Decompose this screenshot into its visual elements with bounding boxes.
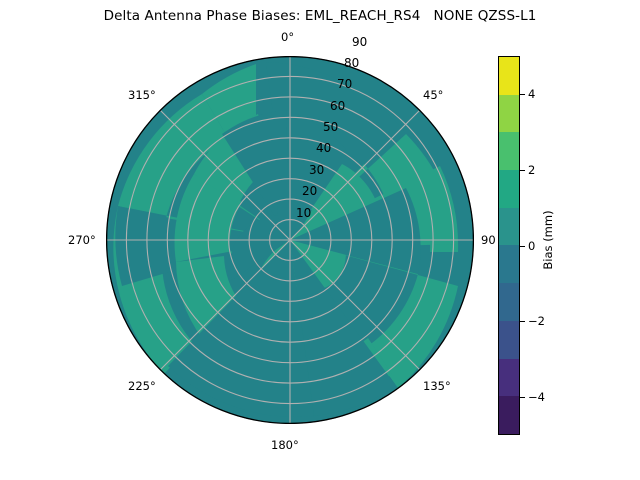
colorbar-tick-label-4: −4 (528, 390, 545, 404)
colorbar-title: Bias (mm) (541, 210, 555, 269)
radial-tick-60: 60 (330, 99, 345, 113)
colorbar-gradient (498, 56, 520, 435)
angle-tick-0: 0° (281, 30, 294, 44)
radial-tick-30: 30 (309, 163, 324, 177)
colorbar-tick-label-2: 0 (528, 239, 535, 253)
colorbar-band-6 (499, 283, 519, 321)
colorbar: 420−2−4 (498, 56, 520, 435)
angle-tick-135: 135° (423, 379, 451, 393)
polar-grid (106, 56, 474, 424)
colorbar-tick-1 (520, 170, 525, 171)
colorbar-band-5 (499, 245, 519, 283)
radial-tick-90: 90 (352, 35, 367, 49)
colorbar-tick-label-1: 2 (528, 163, 535, 177)
colorbar-tick-0 (520, 94, 525, 95)
colorbar-band-0 (499, 57, 519, 95)
colorbar-tick-4 (520, 397, 525, 398)
colorbar-band-2 (499, 132, 519, 170)
colorbar-tick-label-3: −2 (528, 314, 545, 328)
angle-tick-90: 90 (481, 233, 496, 247)
angle-tick-225: 225° (128, 379, 156, 393)
polar-axes: 10 20 30 40 50 60 70 80 90 (106, 56, 474, 424)
colorbar-tick-3 (520, 321, 525, 322)
colorbar-band-9 (499, 396, 519, 434)
page-title: Delta Antenna Phase Biases: EML_REACH_RS… (0, 8, 640, 24)
colorbar-band-1 (499, 95, 519, 133)
angle-tick-180: 180° (271, 438, 299, 452)
colorbar-band-3 (499, 170, 519, 208)
figure-canvas: Delta Antenna Phase Biases: EML_REACH_RS… (0, 0, 640, 480)
colorbar-band-7 (499, 321, 519, 359)
polar-plot-svg (106, 56, 474, 424)
colorbar-band-8 (499, 359, 519, 397)
radial-tick-40: 40 (316, 141, 331, 155)
radial-tick-20: 20 (302, 184, 317, 198)
radial-tick-10: 10 (296, 206, 311, 220)
colorbar-tick-2 (520, 246, 525, 247)
colorbar-tick-label-0: 4 (528, 87, 535, 101)
angle-tick-270: 270° (68, 233, 96, 247)
colorbar-band-4 (499, 208, 519, 246)
radial-tick-80: 80 (344, 56, 359, 70)
radial-tick-50: 50 (323, 120, 338, 134)
angle-tick-45: 45° (423, 88, 443, 102)
radial-tick-70: 70 (337, 77, 352, 91)
angle-tick-315: 315° (128, 88, 156, 102)
